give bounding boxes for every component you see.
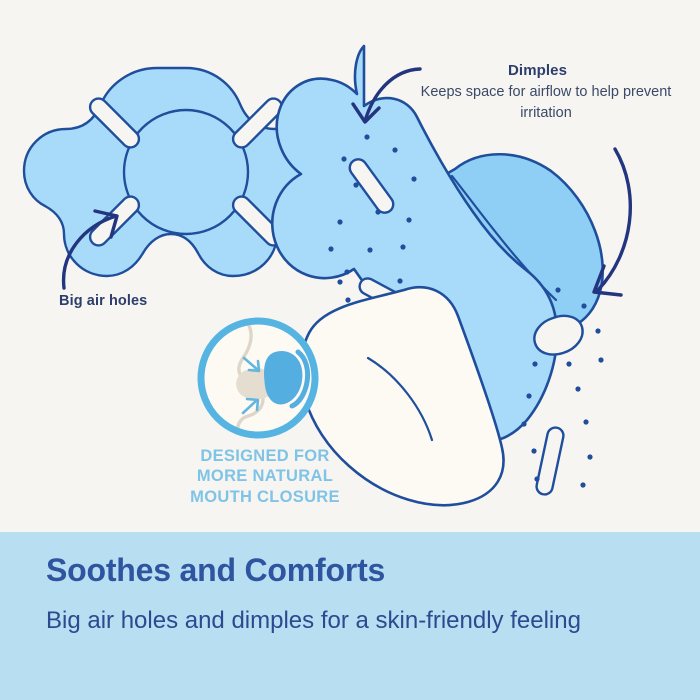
bottom-banner: Soothes and Comforts Big air holes and d… [0,532,700,700]
mouth-closure-caption: DESIGNED FOR MORE NATURAL MOUTH CLOSURE [160,446,370,507]
big-air-holes-callout-title: Big air holes [59,293,147,309]
infographic-canvas: Dimples Keeps space for airflow to help … [0,0,700,700]
mouth-closure-caption-line-3: MOUTH CLOSURE [160,487,370,507]
banner-subtext: Big air holes and dimples for a skin-fri… [46,604,656,638]
mouth-closure-caption-line-1: DESIGNED FOR [160,446,370,466]
large-air-hole-lower [535,426,565,496]
small-pacifier-front-view [24,68,317,276]
dimples-callout-body: Keeps space for airflow to help prevent … [396,82,696,124]
big-air-holes-callout: Big air holes [59,292,279,310]
mouth-closure-caption-line-2: MORE NATURAL [160,466,370,486]
dimples-callout: Dimples Keeps space for airflow to help … [396,62,696,124]
small-pacifier-center-circle [124,110,248,234]
dimples-callout-title: Dimples [396,62,696,79]
banner-heading: Soothes and Comforts [46,552,385,589]
